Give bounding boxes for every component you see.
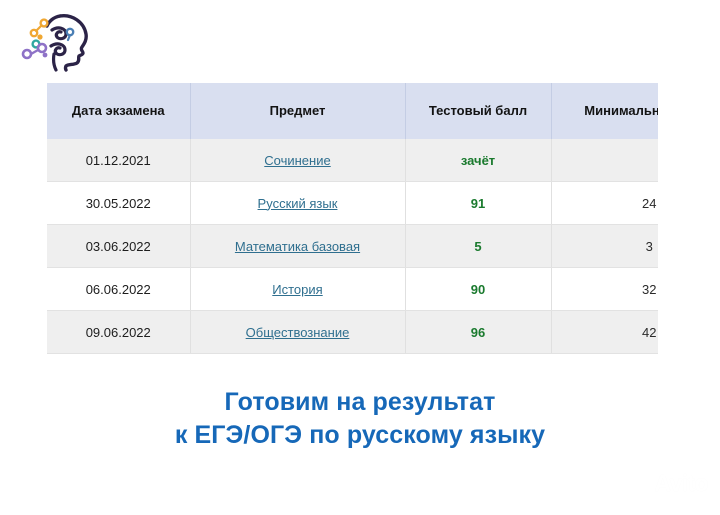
brain-stem-icon bbox=[54, 54, 56, 70]
molecule-purple-link-icon bbox=[31, 50, 38, 54]
exam-results-table: Дата экзамена Предмет Тестовый балл Мини… bbox=[47, 83, 658, 354]
cell-date: 03.06.2022 bbox=[47, 225, 190, 268]
min-score-value: 42 bbox=[642, 325, 656, 340]
cell-date: 06.06.2022 bbox=[47, 268, 190, 311]
column-header-test-score: Тестовый балл bbox=[405, 83, 551, 139]
subject-link[interactable]: Обществознание bbox=[246, 325, 350, 340]
avito-watermark: Avito bbox=[626, 470, 708, 497]
subject-link[interactable]: Русский язык bbox=[258, 196, 338, 211]
table-header-row: Дата экзамена Предмет Тестовый балл Мини… bbox=[47, 83, 658, 139]
min-score-value: 32 bbox=[642, 282, 656, 297]
cell-min-score bbox=[551, 139, 658, 182]
cell-date: 09.06.2022 bbox=[47, 311, 190, 354]
brain-head-logo-svg bbox=[14, 10, 98, 72]
table-row: 06.06.2022 История 90 32 bbox=[47, 268, 658, 311]
min-score-value: 24 bbox=[642, 196, 656, 211]
cell-min-score: 24 bbox=[551, 182, 658, 225]
cell-subject: Обществознание bbox=[190, 311, 405, 354]
cell-min-score: 3 bbox=[551, 225, 658, 268]
head-forehead-icon bbox=[47, 16, 60, 26]
molecule-purple-left-icon bbox=[23, 50, 31, 58]
cell-subject: Русский язык bbox=[190, 182, 405, 225]
table-row: 30.05.2022 Русский язык 91 24 bbox=[47, 182, 658, 225]
brand-logo bbox=[14, 10, 98, 72]
table-body: 01.12.2021 Сочинение зачёт 30.05.2022 Ру… bbox=[47, 139, 658, 354]
cell-subject: Математика базовая bbox=[190, 225, 405, 268]
molecule-orange-bottom-icon bbox=[31, 30, 37, 36]
table-row: 03.06.2022 Математика базовая 5 3 bbox=[47, 225, 658, 268]
subject-link[interactable]: Математика базовая bbox=[235, 239, 360, 254]
avito-circles-icon bbox=[626, 473, 650, 495]
test-score-value: 90 bbox=[471, 282, 485, 297]
cell-test-score: 5 bbox=[405, 225, 551, 268]
column-header-min-score: Минимальный балл bbox=[551, 83, 658, 139]
headline: Готовим на результат к ЕГЭ/ОГЭ по русско… bbox=[0, 386, 720, 452]
avito-wordmark: Avito bbox=[654, 470, 708, 497]
cell-test-score: 91 bbox=[405, 182, 551, 225]
head-outline-icon bbox=[60, 16, 86, 70]
cell-test-score: 96 bbox=[405, 311, 551, 354]
cell-min-score: 32 bbox=[551, 268, 658, 311]
cell-date: 01.12.2021 bbox=[47, 139, 190, 182]
molecule-orange-dot-icon bbox=[37, 34, 42, 39]
table-row: 09.06.2022 Обществознание 96 42 bbox=[47, 311, 658, 354]
table-row: 01.12.2021 Сочинение зачёт bbox=[47, 139, 658, 182]
exam-results-table-container: Дата экзамена Предмет Тестовый балл Мини… bbox=[47, 83, 658, 354]
subject-link[interactable]: История bbox=[272, 282, 322, 297]
min-score-value: 3 bbox=[646, 239, 653, 254]
test-score-value: 5 bbox=[474, 239, 481, 254]
cell-test-score: зачёт bbox=[405, 139, 551, 182]
cell-subject: Сочинение bbox=[190, 139, 405, 182]
molecule-purple-dot-icon bbox=[43, 53, 48, 58]
column-header-subject: Предмет bbox=[190, 83, 405, 139]
subject-link[interactable]: Сочинение bbox=[264, 153, 330, 168]
cell-date: 30.05.2022 bbox=[47, 182, 190, 225]
headline-line-2: к ЕГЭ/ОГЭ по русскому языку bbox=[0, 419, 720, 452]
cell-min-score: 42 bbox=[551, 311, 658, 354]
headline-line-1: Готовим на результат bbox=[225, 388, 496, 416]
test-score-value: 96 bbox=[471, 325, 485, 340]
cell-test-score: 90 bbox=[405, 268, 551, 311]
brain-swirl-upper-icon bbox=[52, 28, 66, 39]
test-score-value: зачёт bbox=[461, 153, 495, 168]
cell-subject: История bbox=[190, 268, 405, 311]
column-header-date: Дата экзамена bbox=[47, 83, 190, 139]
test-score-value: 91 bbox=[471, 196, 485, 211]
table-header: Дата экзамена Предмет Тестовый балл Мини… bbox=[47, 83, 658, 139]
molecule-purple-right-icon bbox=[38, 44, 46, 52]
